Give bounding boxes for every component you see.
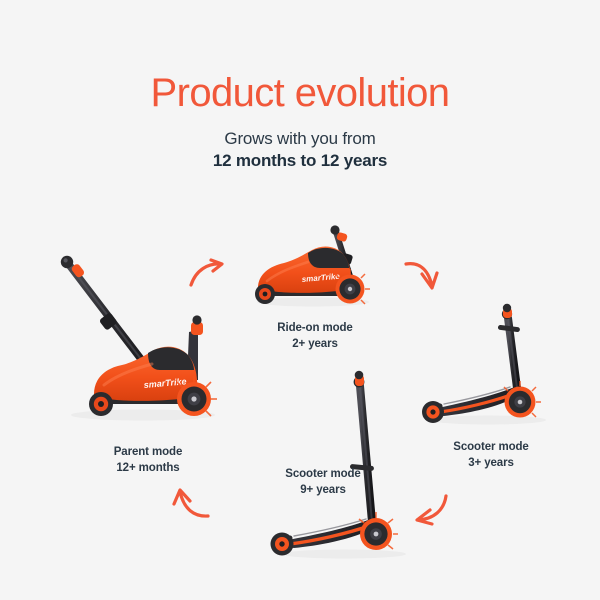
front-wheel [271, 533, 294, 556]
ride-on-mode-age: 2+ years [240, 337, 390, 353]
subtitle-line-1: Grows with you from [0, 129, 600, 149]
rear-wheel [359, 512, 398, 550]
scooter-mode-9-age: 9+ years [258, 483, 388, 499]
arrow-parent-to-rideon-icon [188, 258, 228, 292]
arrow-scooter3-to-scooter9-icon [412, 494, 452, 528]
parent-mode-caption: Parent mode 12+ months [48, 445, 248, 476]
arrow-rideon-to-scooter3-icon [404, 258, 444, 294]
parent-mode-age: 12+ months [48, 461, 248, 477]
steering-stem [350, 371, 374, 522]
page-title: Product evolution [0, 72, 600, 115]
subtitle-line-2: 12 months to 12 years [0, 151, 600, 171]
arrow-scooter9-to-parent-icon [172, 486, 214, 522]
scooter-mode-3-label: Scooter mode [453, 441, 528, 453]
scooter-mode-9-label: Scooter mode [285, 468, 360, 480]
stage-scooter-mode-9[interactable]: Scooter mode 9+ years [248, 362, 448, 562]
front-wheel [255, 284, 275, 304]
infographic-canvas: Product evolution Grows with you from 12… [0, 0, 600, 600]
front-wheel [89, 392, 113, 416]
header: Product evolution Grows with you from 12… [0, 72, 600, 171]
stage-ride-on-mode[interactable]: smarTrike [240, 224, 390, 352]
parent-mode-label: Parent mode [114, 446, 183, 458]
scooter-mode-9-caption: Scooter mode 9+ years [258, 467, 388, 498]
ride-on-mode-label: Ride-on mode [277, 322, 352, 334]
scooter-mode-9-illustration [248, 362, 448, 562]
ride-on-mode-caption: Ride-on mode 2+ years [240, 321, 390, 352]
ride-on-mode-illustration: smarTrike [240, 224, 390, 309]
steering-stem [498, 304, 520, 388]
